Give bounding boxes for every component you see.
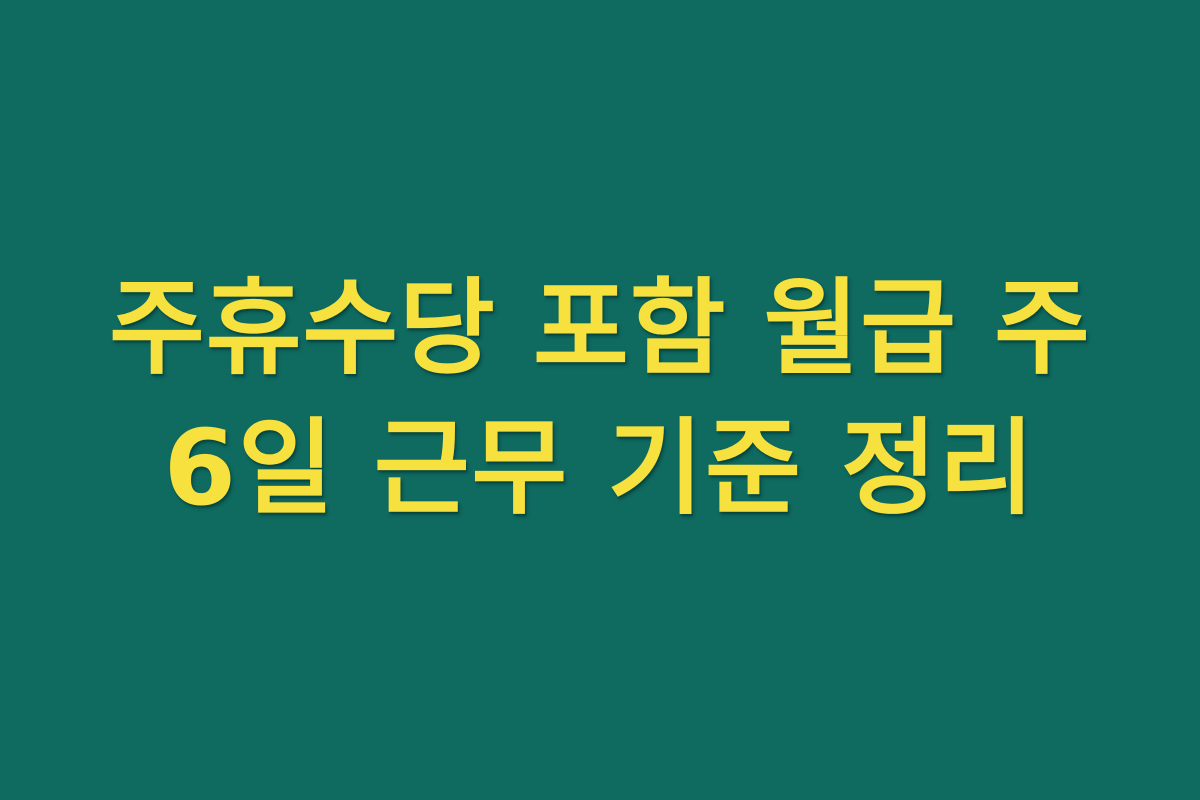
title-line-2: 6일 근무 기준 정리	[95, 398, 1105, 538]
thumbnail-banner: 주휴수당 포함 월급 주 6일 근무 기준 정리	[0, 0, 1200, 800]
title-line-1: 주휴수당 포함 월급 주	[95, 258, 1105, 398]
page-title: 주휴수당 포함 월급 주 6일 근무 기준 정리	[95, 258, 1105, 538]
